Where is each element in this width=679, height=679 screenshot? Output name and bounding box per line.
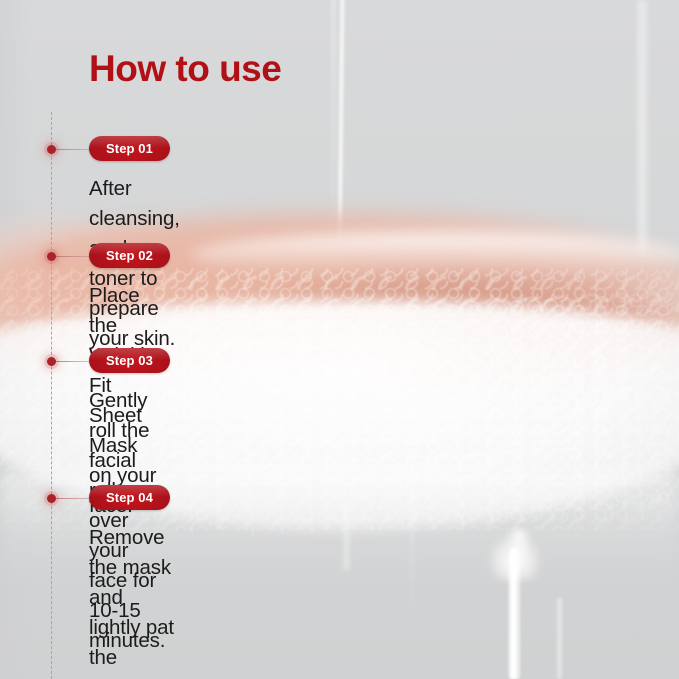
step-badge-1: Step 01: [89, 136, 170, 161]
step-marker-dot-1: [47, 145, 56, 154]
step-marker-dot-3: [47, 357, 56, 366]
page-title: How to use: [89, 50, 281, 87]
step-description-4: Remove the mask and lightly pat the rema…: [89, 523, 178, 679]
step-badge-4: Step 04: [89, 485, 170, 510]
content-layer: How to use Step 01 After cleansing, appl…: [0, 0, 679, 679]
step-marker-dot-2: [47, 252, 56, 261]
steps-timeline-dashed-line: [51, 112, 52, 679]
step-badge-2: Step 02: [89, 243, 170, 268]
step-marker-dot-4: [47, 494, 56, 503]
step-badge-3: Step 03: [89, 348, 170, 373]
how-to-use-infographic: How to use Step 01 After cleansing, appl…: [0, 0, 679, 679]
